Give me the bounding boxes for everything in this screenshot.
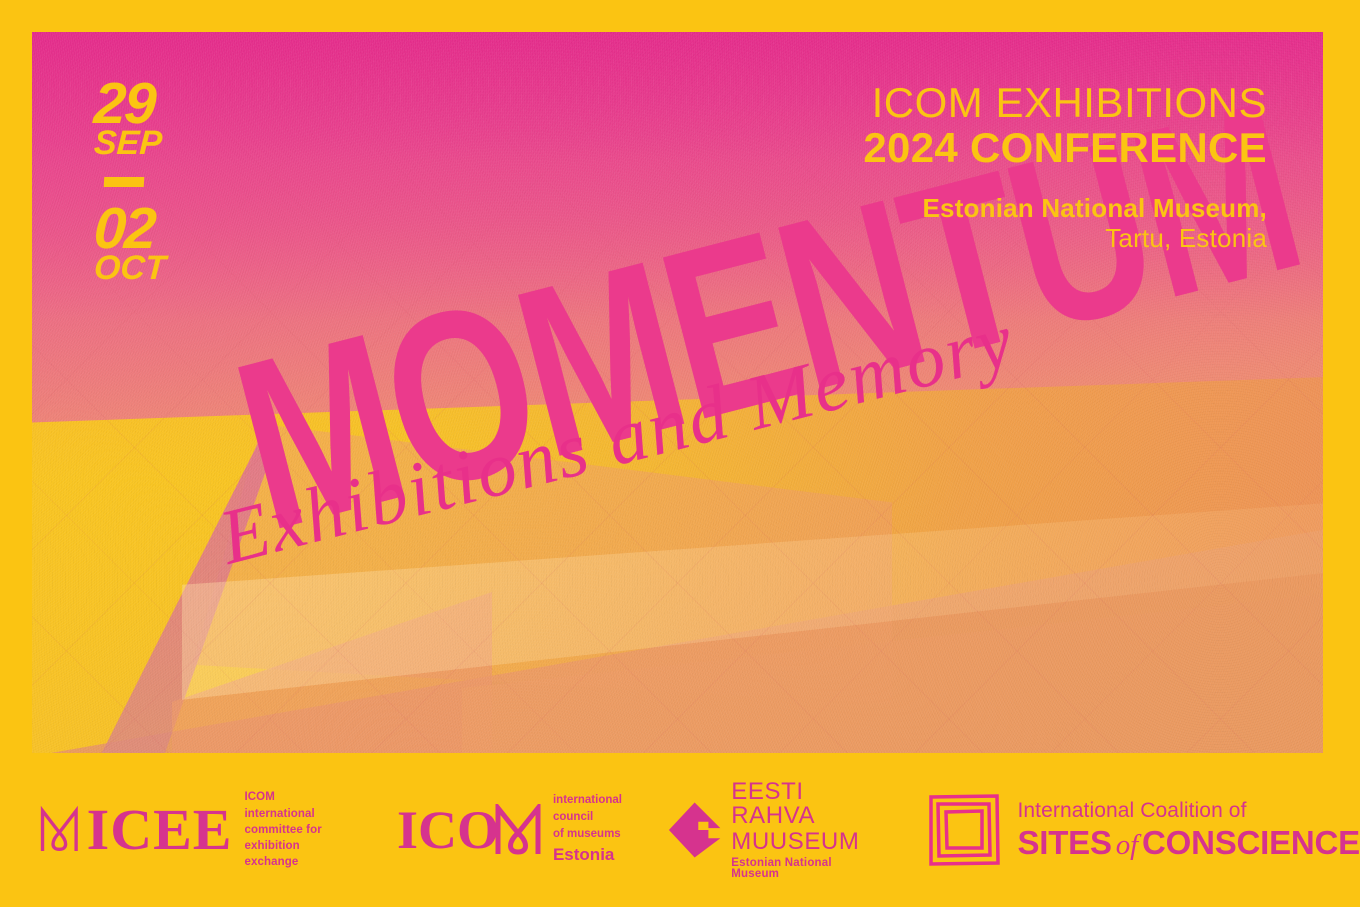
- icee-wordmark: ICEE: [87, 801, 233, 859]
- logo-icom-estonia[interactable]: ICO international council of museums Est…: [397, 792, 622, 868]
- icee-tagline-line-1: ICOM: [244, 789, 338, 805]
- soc-wordmark: International Coalition of SITESofCONSCI…: [1017, 799, 1360, 862]
- erm-line-1: EESTI RAHVA: [731, 780, 881, 828]
- conference-header: ICOM EXHIBITIONS 2024 CONFERENCE Estonia…: [863, 82, 1267, 251]
- icee-tagline-line-4: exhibition exchange: [244, 838, 338, 871]
- erm-wordmark: EESTI RAHVA MUUSEUM Estonian National Mu…: [731, 780, 881, 881]
- icee-tagline-line-3: committee for: [244, 822, 338, 838]
- hero-image-panel: 29 SEP 02 OCT ICOM EXHIBITIONS 2024 CONF…: [32, 32, 1323, 753]
- conference-series-label: ICOM EXHIBITIONS: [863, 82, 1267, 124]
- start-month: SEP: [93, 130, 166, 158]
- soc-word-sites: SITES: [1017, 824, 1111, 861]
- conference-year-label: 2024 CONFERENCE: [863, 127, 1267, 169]
- yellow-wedge-shape: [32, 377, 1323, 753]
- erm-diamond-icon: [668, 799, 721, 861]
- logo-sites-of-conscience[interactable]: International Coalition of SITESofCONSCI…: [927, 792, 1360, 868]
- icee-tagline: ICOM international committee for exhibit…: [244, 789, 338, 871]
- icom-wordmark: ICO: [397, 803, 499, 857]
- soc-line-2: SITESofCONSCIENCE: [1017, 824, 1360, 862]
- date-range-dash: [104, 177, 145, 187]
- logo-eesti-rahva-muuseum[interactable]: EESTI RAHVA MUUSEUM Estonian National Mu…: [668, 780, 881, 881]
- light-streak-shape: [182, 502, 1323, 732]
- right-floor-plane-shape: [462, 592, 1323, 753]
- start-day: 29: [93, 80, 167, 128]
- spire-shape: [82, 432, 312, 753]
- soc-word-of: of: [1112, 829, 1142, 861]
- icee-tagline-line-2: international: [244, 806, 338, 822]
- end-day: 02: [93, 205, 167, 253]
- icom-loop-m-icon: [495, 804, 541, 856]
- conference-poster: 29 SEP 02 OCT ICOM EXHIBITIONS 2024 CONF…: [0, 0, 1360, 907]
- venue-name: Estonian National Museum,: [863, 195, 1267, 221]
- soc-word-conscience: CONSCIENCE: [1142, 824, 1360, 861]
- nested-squares-icon: [927, 792, 1003, 868]
- end-month: OCT: [93, 255, 166, 283]
- left-wall-plane-shape: [172, 592, 492, 753]
- ceiling-plane-shape: [192, 424, 892, 704]
- icom-tagline: international council of museums Estonia: [553, 792, 622, 868]
- logo-icee[interactable]: ICEE ICOM international committee for ex…: [40, 789, 339, 871]
- date-block: 29 SEP 02 OCT: [94, 80, 166, 283]
- soc-line-1: International Coalition of: [1017, 799, 1360, 823]
- icom-tagline-line-1: international: [553, 792, 622, 809]
- erm-line-3: Estonian National Museum: [731, 858, 881, 881]
- icee-monogram-icon: [40, 803, 79, 857]
- erm-line-2: MUUSEUM: [731, 830, 881, 854]
- page-subtitle: Exhibitions and Memory: [211, 294, 1023, 583]
- venue-city: Tartu, Estonia: [863, 225, 1267, 251]
- icom-country: Estonia: [553, 843, 622, 868]
- icom-tagline-line-3: of museums: [553, 826, 622, 843]
- icom-tagline-line-2: council: [553, 809, 622, 826]
- partner-logo-bar: ICEE ICOM international committee for ex…: [0, 753, 1360, 907]
